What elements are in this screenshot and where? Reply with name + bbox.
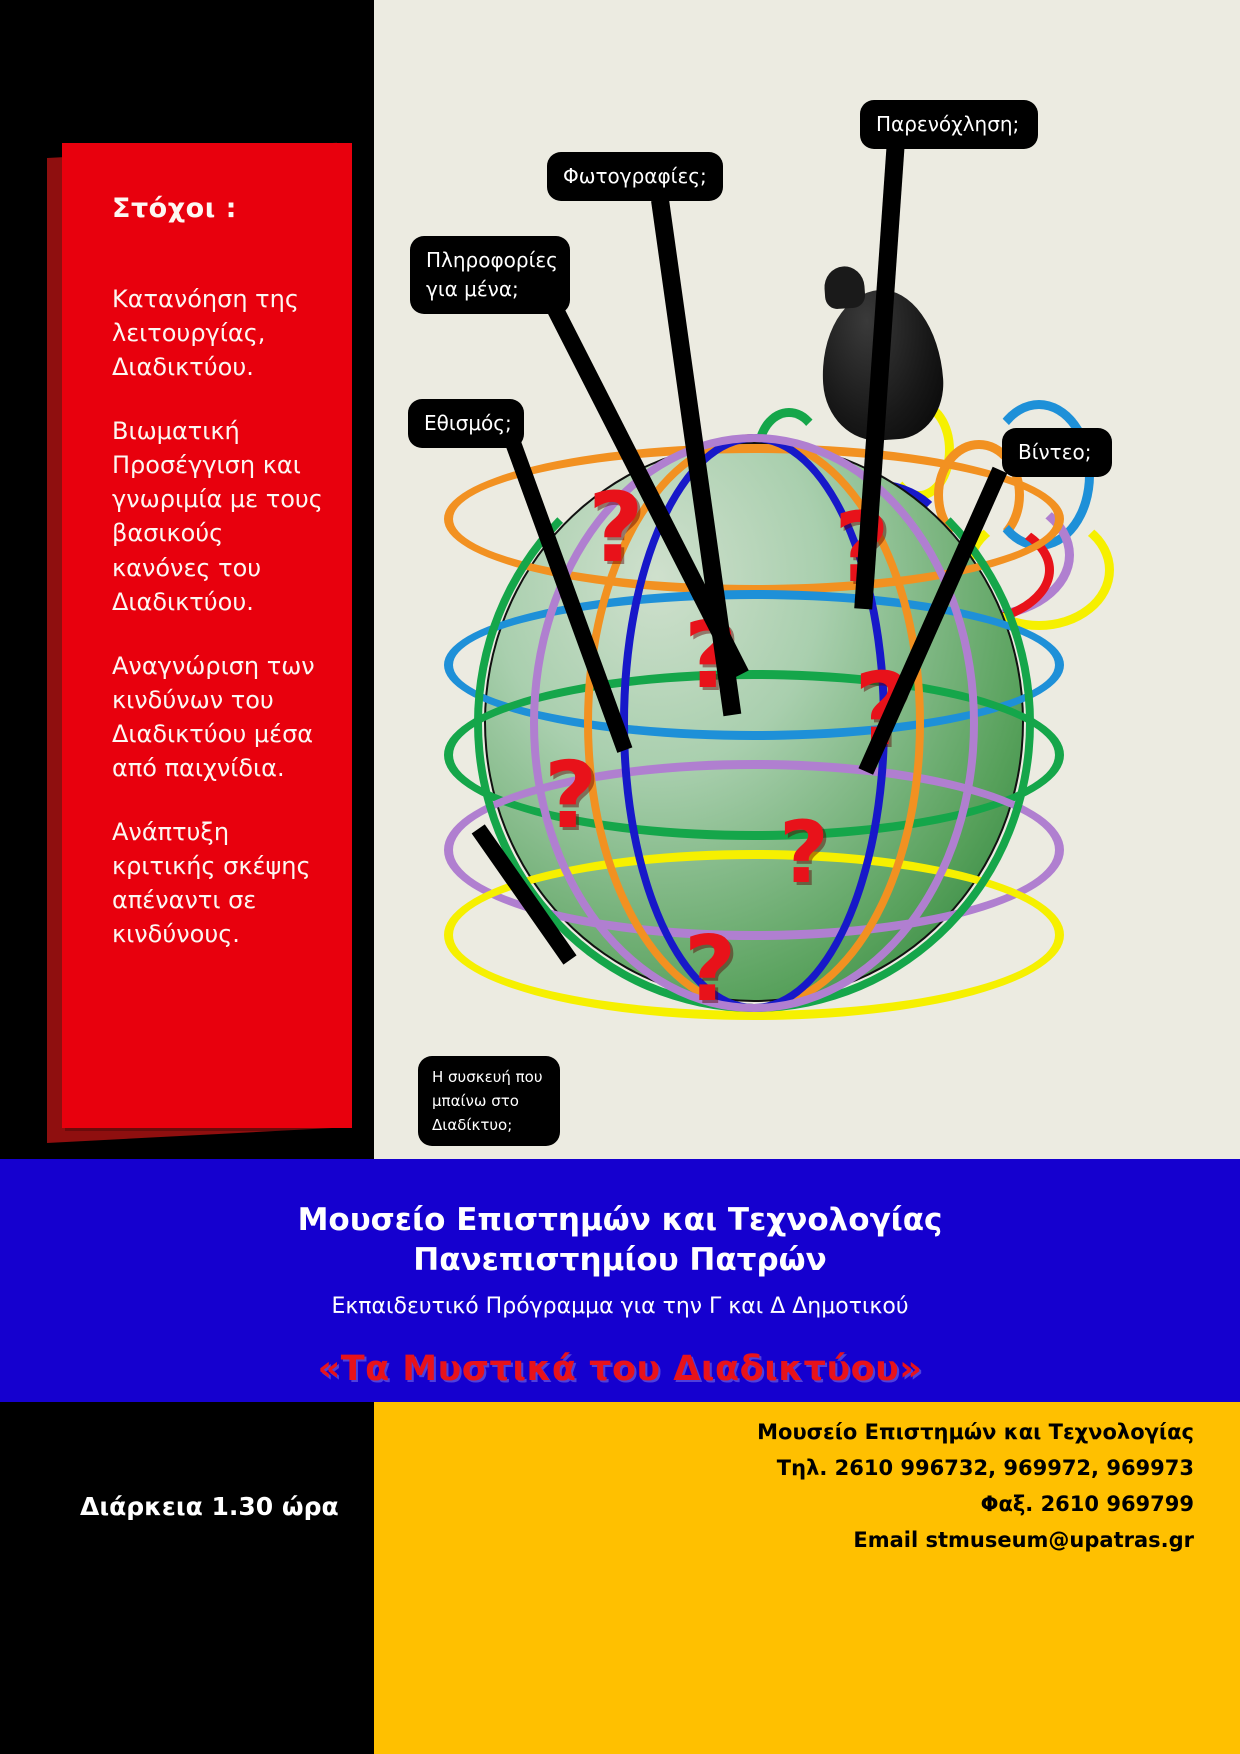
question-mark-icon: ? [544,750,597,842]
contact-phone: Τηλ. 2610 996732, 969972, 969973 [374,1450,1194,1486]
museum-name-line1: Μουσείο Επιστημών και Τεχνολογίας [0,1201,1240,1241]
question-mark-icon: ? [588,480,644,576]
illustration-panel: ? ? ? ? ? ? ? Εθισμός; Πληροφορίες για μ… [374,0,1240,1159]
objectives-title: Στόχοι : [112,193,324,224]
objective-item: Αναγνώριση των κινδύνων του Διαδικτύου μ… [112,649,324,785]
question-mark-icon: ? [684,925,736,1015]
bubble-syskevi[interactable]: Η συσκευή που μπαίνω στο Διαδίκτυο; [418,1056,560,1146]
bubble-vinteo[interactable]: Βίντεο; [1002,428,1112,477]
question-mark-icon: ? [779,810,829,896]
contact-panel: Μουσείο Επιστημών και Τεχνολογίας Τηλ. 2… [374,1402,1240,1754]
duration-text: Διάρκεια 1.30 ώρα [80,1492,339,1521]
program-title: «Τα Μυστικά του Διαδικτύου» [0,1349,1240,1389]
contact-museum-name: Μουσείο Επιστημών και Τεχνολογίας [374,1414,1194,1450]
poster-root: ? ? ? ? ? ? ? Εθισμός; Πληροφορίες για μ… [0,0,1240,1754]
contact-email[interactable]: Email stmuseum@upatras.gr [374,1522,1194,1558]
bubble-plirofories[interactable]: Πληροφορίες για μένα; [410,236,570,314]
museum-name-line2: Πανεπιστημίου Πατρών [0,1241,1240,1281]
bubble-fotografies[interactable]: Φωτογραφίες; [547,152,723,201]
duration-panel: Διάρκεια 1.30 ώρα [0,1402,374,1754]
objective-item: Ανάπτυξη κριτικής σκέψης απέναντι σε κιν… [112,815,324,951]
contact-fax: Φαξ. 2610 969799 [374,1486,1194,1522]
objectives-box: Στόχοι : Κατανόηση της λειτουργίας, Διαδ… [62,143,352,1128]
objective-item: Βιωματική Προσέγγιση και γνωριμία με του… [112,414,324,618]
museum-banner: Μουσείο Επιστημών και Τεχνολογίας Πανεπι… [0,1159,1240,1402]
bubble-parenoxlisi[interactable]: Παρενόχληση; [860,100,1038,149]
bubble-ethismos[interactable]: Εθισμός; [408,399,524,448]
objective-item: Κατανόηση της λειτουργίας, Διαδικτύου. [112,282,324,384]
program-description: Εκπαιδευτικό Πρόγραμμα για την Γ και Δ Δ… [0,1294,1240,1319]
